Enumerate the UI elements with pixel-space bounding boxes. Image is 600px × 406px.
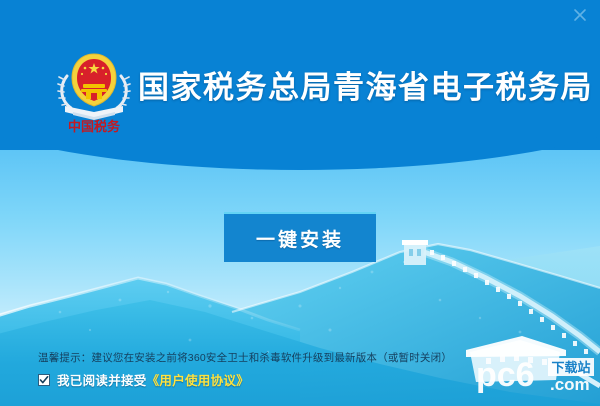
- user-agreement-link[interactable]: 《用户使用协议》: [147, 370, 249, 389]
- china-tax-emblem-icon: 中国税务: [53, 46, 135, 134]
- page-title: 国家税务总局青海省电子税务局: [138, 68, 593, 108]
- emblem-caption: 中国税务: [68, 119, 121, 134]
- close-icon: [568, 4, 592, 26]
- installer-window: 中国税务 国家税务总局青海省电子税务局 一键安装 温馨提示：建议您在安装之前将3…: [0, 0, 600, 406]
- watchtower-upper: [402, 240, 428, 265]
- warm-tip-text: 温馨提示：建议您在安装之前将360安全卫士和杀毒软件升级到最新版本（或暂时关闭）: [38, 350, 452, 365]
- agreement-row: 我已阅读并接受 《用户使用协议》: [38, 370, 249, 389]
- one-click-install-button[interactable]: 一键安装: [224, 212, 376, 262]
- agreement-label: 我已阅读并接受: [57, 370, 147, 389]
- close-button[interactable]: [568, 4, 592, 26]
- agreement-checkbox[interactable]: [38, 374, 50, 386]
- checkmark-icon: [39, 375, 49, 385]
- china-tax-emblem-logo: 中国税务: [53, 46, 135, 134]
